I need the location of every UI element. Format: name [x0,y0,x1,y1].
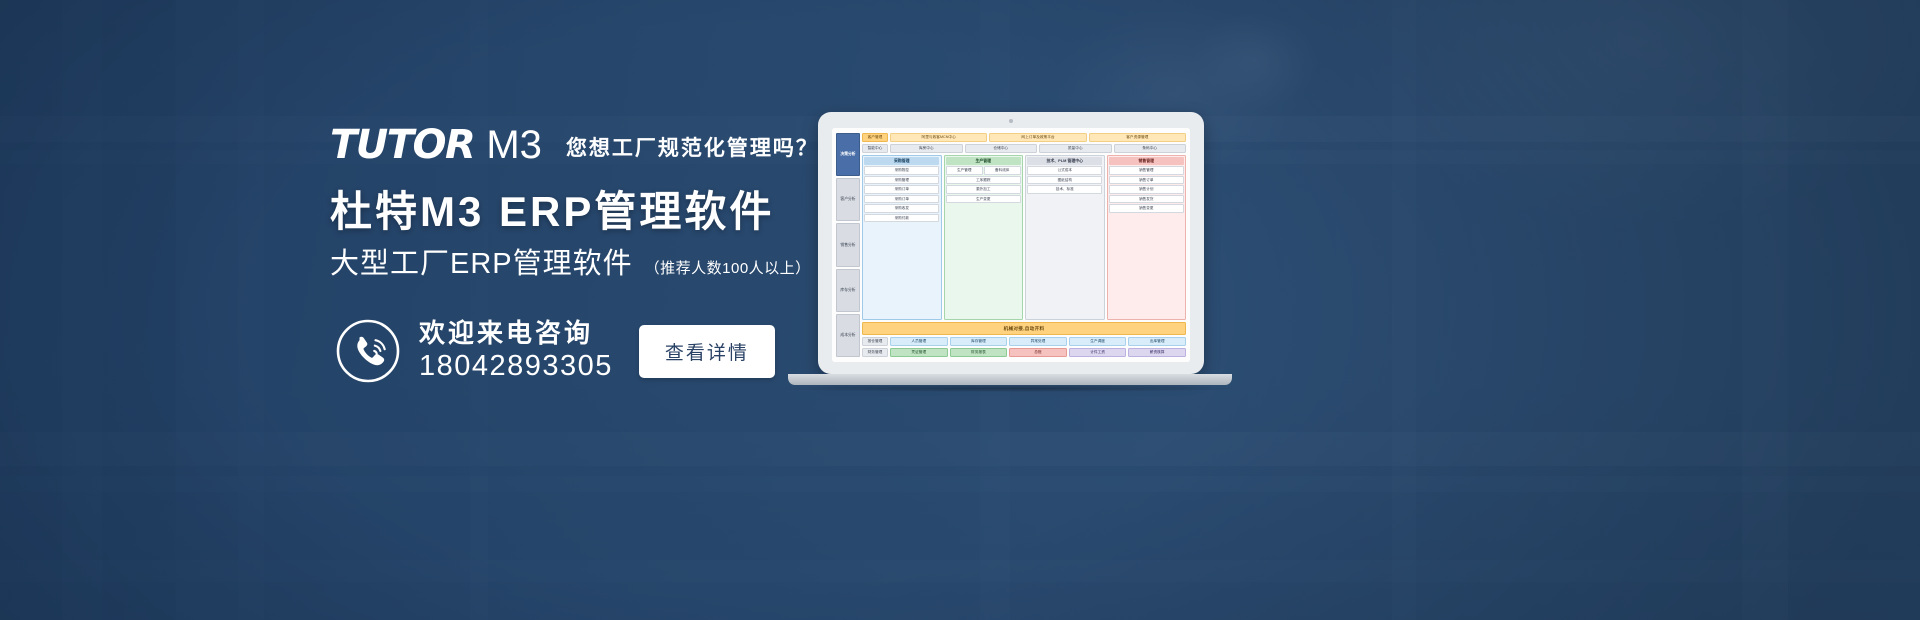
erp-module-purchasing: 采购管理 采购物控 采购管理 采购订单 采购订单 采购收发 采购付款 [862,155,942,320]
erp-chip: 仓储中心 [965,144,1038,153]
erp-module-item: 图纸结构 [1027,176,1102,184]
erp-row-supply: 按仓管理 人员管理 库存管理 异常处理 生产调度 出库管理 [862,337,1186,346]
erp-row-lead: 财务管理 [862,348,888,357]
laptop-screen: 决策分析 客户分析 销售分析 库存分析 成本分析 客户管理 阿里与政客MCN中心 [832,128,1190,362]
erp-module-item: 销售订单 [1109,176,1184,184]
erp-row-lead: 按仓管理 [862,337,888,346]
erp-module-item: 销售管理 [1109,166,1184,174]
erp-module-title: 技术、PLM 管理中心 [1027,157,1102,165]
erp-row-lead: 智能中心 [862,144,888,153]
erp-chip: 生产调度 [1069,337,1127,346]
brand-logo: TUTOR M3 您想工厂规范化管理吗？ [330,125,819,165]
erp-row-lead: 客户管理 [862,133,888,142]
erp-module-title: 采购管理 [864,157,939,165]
hero-banner: TUTOR M3 您想工厂规范化管理吗？ 杜特M3 ERP管理软件 大型工厂ER… [0,0,1920,620]
erp-chip: 财务报表 [950,348,1008,357]
erp-module-item: 公式成本 [1027,166,1102,174]
erp-row-customer: 客户管理 阿里与政客MCN中心 网上订单及政策平台 客户资源管理 [862,133,1186,142]
erp-chip: 凭证管理 [890,348,948,357]
erp-chip: 人员管理 [890,337,948,346]
erp-module-item: 备料线体 [984,166,1021,174]
erp-module-columns: 采购管理 采购物控 采购管理 采购订单 采购订单 采购收发 采购付款 生产管理 [862,155,1186,320]
contact-phone-number[interactable]: 18042893305 [419,350,613,382]
erp-sidebar-item[interactable]: 决策分析 [836,133,860,176]
erp-sidebar-item[interactable]: 成本分析 [836,314,860,357]
erp-module-item: 采购订单 [864,195,939,203]
brand-tagline: 您想工厂规范化管理吗？ [566,132,819,162]
erp-module-item: 采购物控 [864,166,939,174]
erp-chip: 出库管理 [1128,337,1186,346]
contact-text: 欢迎来电咨询 18042893305 [419,319,613,383]
erp-chip: 阿里与政客MCN中心 [890,133,987,142]
erp-highlight-strip: 机械对接,自动开料 [862,322,1186,335]
laptop-shadow [776,385,1244,392]
erp-module-item: 生产变更 [946,195,1021,203]
page-title: 杜特M3 ERP管理软件 [330,178,774,239]
subtitle-main: 大型工厂ERP管理软件 [330,240,633,282]
laptop-mockup: 决策分析 客户分析 销售分析 库存分析 成本分析 客户管理 阿里与政客MCN中心 [788,112,1232,397]
erp-row-finance: 财务管理 凭证管理 财务报表 总账 计件工资 薪资核算 [862,348,1186,357]
erp-module-production: 生产管理 生产管理 备料线体 工序跟踪 委外加工 生产变更 [944,155,1024,320]
erp-chip: 异常处理 [1009,337,1067,346]
erp-module-item: 生产管理 [946,166,983,174]
erp-module-item: 工序跟踪 [946,176,1021,184]
erp-module-item: 采购付款 [864,214,939,222]
erp-module-item: 销售发货 [1109,195,1184,203]
logo-primary-text: TUTOR [330,125,474,165]
laptop-base [788,374,1232,385]
erp-sidebar-item[interactable]: 销售分析 [836,223,860,266]
erp-module-item: 采购管理 [864,176,939,184]
erp-module-item: 采购订单 [864,185,939,193]
erp-module-technology: 技术、PLM 管理中心 公式成本 图纸结构 技术、标准 [1025,155,1105,320]
laptop-lid: 决策分析 客户分析 销售分析 库存分析 成本分析 客户管理 阿里与政客MCN中心 [818,112,1204,374]
erp-chip: 条码中心 [1114,144,1187,153]
erp-sidebar-item[interactable]: 客户分析 [836,178,860,221]
contact-block: 欢迎来电咨询 18042893305 查看详情 [335,318,775,384]
view-details-button[interactable]: 查看详情 [639,325,775,378]
erp-module-item: 技术、标准 [1027,185,1102,193]
contact-cta-label: 欢迎来电咨询 [419,319,613,348]
erp-chip: 质量中心 [1039,144,1112,153]
erp-module-sales: 销售管理 销售管理 销售订单 销售计划 销售发货 销售变更 [1107,155,1187,320]
hero-subtitle: 大型工厂ERP管理软件 （推荐人数100人以上） [330,240,811,282]
erp-sidebar: 决策分析 客户分析 销售分析 库存分析 成本分析 [836,133,860,357]
erp-architecture-diagram: 决策分析 客户分析 销售分析 库存分析 成本分析 客户管理 阿里与政客MCN中心 [832,128,1190,362]
logo-secondary-text: M3 [486,125,542,165]
webcam-icon [1009,119,1013,123]
erp-chip: 客户资源管理 [1089,133,1186,142]
erp-row-smart: 智能中心 库房中心 仓储中心 质量中心 条码中心 [862,144,1186,153]
phone-ring-icon[interactable] [335,318,401,384]
erp-chip: 总账 [1009,348,1067,357]
subtitle-note: （推荐人数100人以上） [645,257,811,278]
erp-chip: 库房中心 [890,144,963,153]
erp-chip: 薪资核算 [1128,348,1186,357]
erp-module-title: 生产管理 [946,157,1021,165]
erp-module-title: 销售管理 [1109,157,1184,165]
erp-chip: 库存管理 [950,337,1008,346]
erp-chip: 网上订单及政策平台 [989,133,1086,142]
erp-module-item: 销售计划 [1109,185,1184,193]
erp-module-item: 销售变更 [1109,204,1184,212]
erp-main-area: 客户管理 阿里与政客MCN中心 网上订单及政策平台 客户资源管理 智能中心 库房… [862,133,1186,357]
erp-sidebar-item[interactable]: 库存分析 [836,269,860,312]
erp-module-item: 委外加工 [946,185,1021,193]
erp-module-item: 采购收发 [864,204,939,212]
erp-chip: 计件工资 [1069,348,1127,357]
